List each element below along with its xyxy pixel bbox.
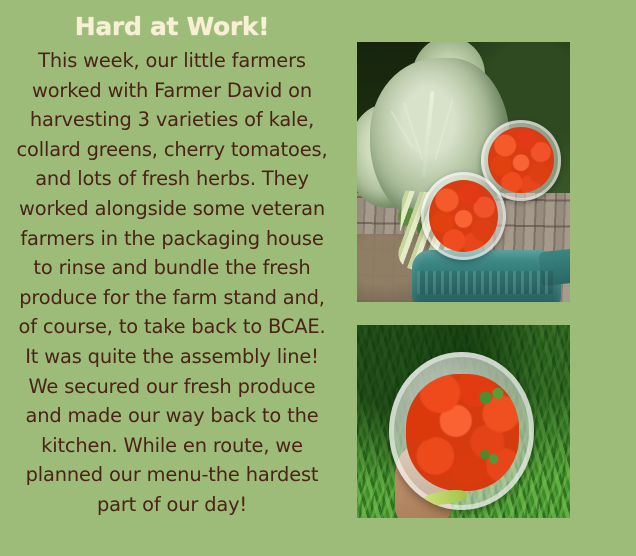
newsletter-poster: Hard at Work! This week, our little farm… (0, 0, 636, 556)
leaf-vein (434, 98, 453, 159)
paragraph-2: We secured our fresh produce and made ou… (16, 372, 328, 520)
text-column: Hard at Work! This week, our little farm… (14, 8, 330, 548)
paragraph-1: This week, our little farmers worked wit… (16, 46, 328, 372)
tomato-container-lower (421, 172, 506, 260)
page-title: Hard at Work! (14, 12, 330, 42)
leaf-vein (390, 110, 413, 148)
watering-can-ribbing (417, 271, 553, 294)
cherry-tomatoes (429, 180, 499, 252)
leaf-midrib (421, 91, 434, 177)
photo-harvest-cabbage-tomatoes (357, 42, 570, 302)
green-leaf-bit (423, 488, 468, 507)
plastic-container (389, 352, 534, 510)
leaf-vein (403, 102, 423, 160)
photo-tomato-container-grass (357, 325, 570, 518)
cherry-tomatoes (488, 127, 554, 193)
body-copy: This week, our little farmers worked wit… (14, 46, 330, 520)
